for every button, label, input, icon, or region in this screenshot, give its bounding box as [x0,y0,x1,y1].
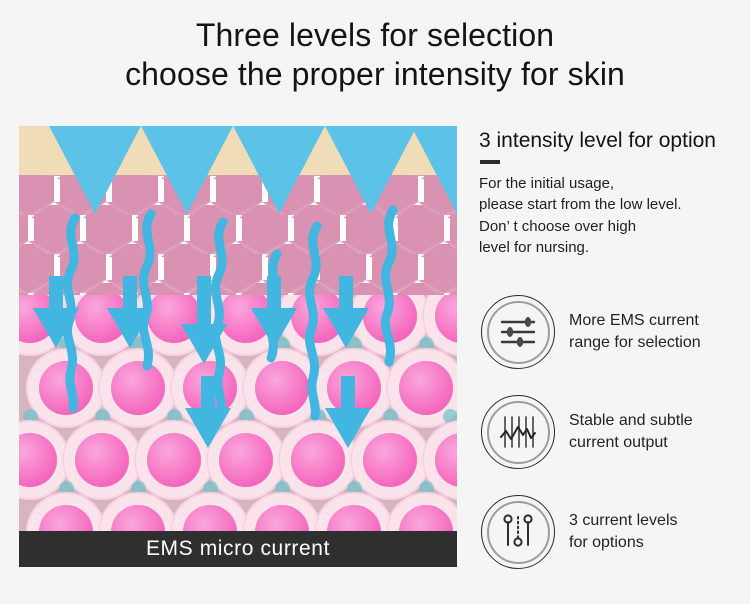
current-arrow-mid [107,308,153,348]
panel-body-line-3: Don’ t choose over high [479,216,741,237]
current-dot [23,409,38,424]
current-arrow-large [231,126,327,214]
skin-cell [435,433,457,487]
current-dot [95,409,110,424]
feature-item-stable-current-output[interactable]: Stable and subtle current output [481,382,749,482]
current-arrow-stem [341,376,355,410]
current-arrow-mid [33,308,79,348]
feature-text-line-2: current output [569,432,693,454]
page-title-line-2: choose the proper intensity for skin [0,55,750,94]
current-arrow-stem [197,276,211,326]
skin-cell [435,295,457,343]
feature-text-line-2: range for selection [569,332,701,354]
page-title-line-1: Three levels for selection [0,16,750,55]
panel-body-line-2: please start from the low level. [479,194,741,215]
current-dot [59,481,74,496]
feature-text: 3 current levels for options [569,510,678,553]
panel-title-underline [480,160,500,164]
current-dot [203,481,218,496]
feature-item-three-current-levels[interactable]: 3 current levels for options [481,482,749,582]
skin-cell [363,433,417,487]
current-dot [347,481,362,496]
current-arrow-stem [267,276,281,310]
current-dot [419,337,434,352]
current-dot [311,409,326,424]
current-dot [131,481,146,496]
illustration-caption-bar: EMS micro current [19,531,457,567]
current-arrow-large [409,126,457,214]
panel-title: 3 intensity level for option [479,128,741,153]
feature-text-line-1: 3 current levels [569,510,678,532]
feature-item-more-ems-current-range[interactable]: More EMS current range for selection [481,282,749,382]
skin-cross-section-illustration [19,126,457,567]
current-dot [419,481,434,496]
hypodermis-layer [19,295,457,567]
skin-cell [399,361,453,415]
current-dot [443,409,457,424]
current-arrow-large [323,126,419,214]
panel-body-line-1: For the initial usage, [479,173,741,194]
current-arrow-stem [339,276,353,310]
skin-cell [111,361,165,415]
current-dot [239,409,254,424]
current-dot [275,481,290,496]
skin-cell [363,295,417,343]
skin-cell [19,433,57,487]
current-arrow-mid [251,308,297,348]
current-arrow-mid [181,324,227,364]
current-arrow-stem [201,376,215,410]
sliders-icon [481,295,555,369]
intensity-info-panel: 3 intensity level for option For the ini… [479,128,741,258]
current-dot [167,409,182,424]
panel-body-line-4: level for nursing. [479,237,741,258]
panel-body: For the initial usage, please start from… [479,173,741,258]
current-arrow-large [139,126,235,214]
feature-text-line-1: Stable and subtle [569,410,693,432]
current-arrow-stem [49,276,63,310]
skin-cell [39,361,93,415]
skin-cell [75,433,129,487]
waveform-icon [481,395,555,469]
levels-icon [481,495,555,569]
skin-cell [255,361,309,415]
page-title: Three levels for selection choose the pr… [0,16,750,94]
illustration-caption-text: EMS micro current [146,537,330,561]
current-arrow-mid [325,408,371,448]
current-arrow-mid [185,408,231,448]
current-arrow-large [47,126,143,214]
feature-text: More EMS current range for selection [569,310,701,353]
feature-text-line-2: for options [569,532,678,554]
current-dot [383,409,398,424]
feature-text-line-1: More EMS current [569,310,701,332]
feature-list: More EMS current range for selection Sta… [481,282,749,582]
feature-text: Stable and subtle current output [569,410,693,453]
current-arrow-stem [123,276,137,310]
current-arrow-mid [323,308,369,348]
